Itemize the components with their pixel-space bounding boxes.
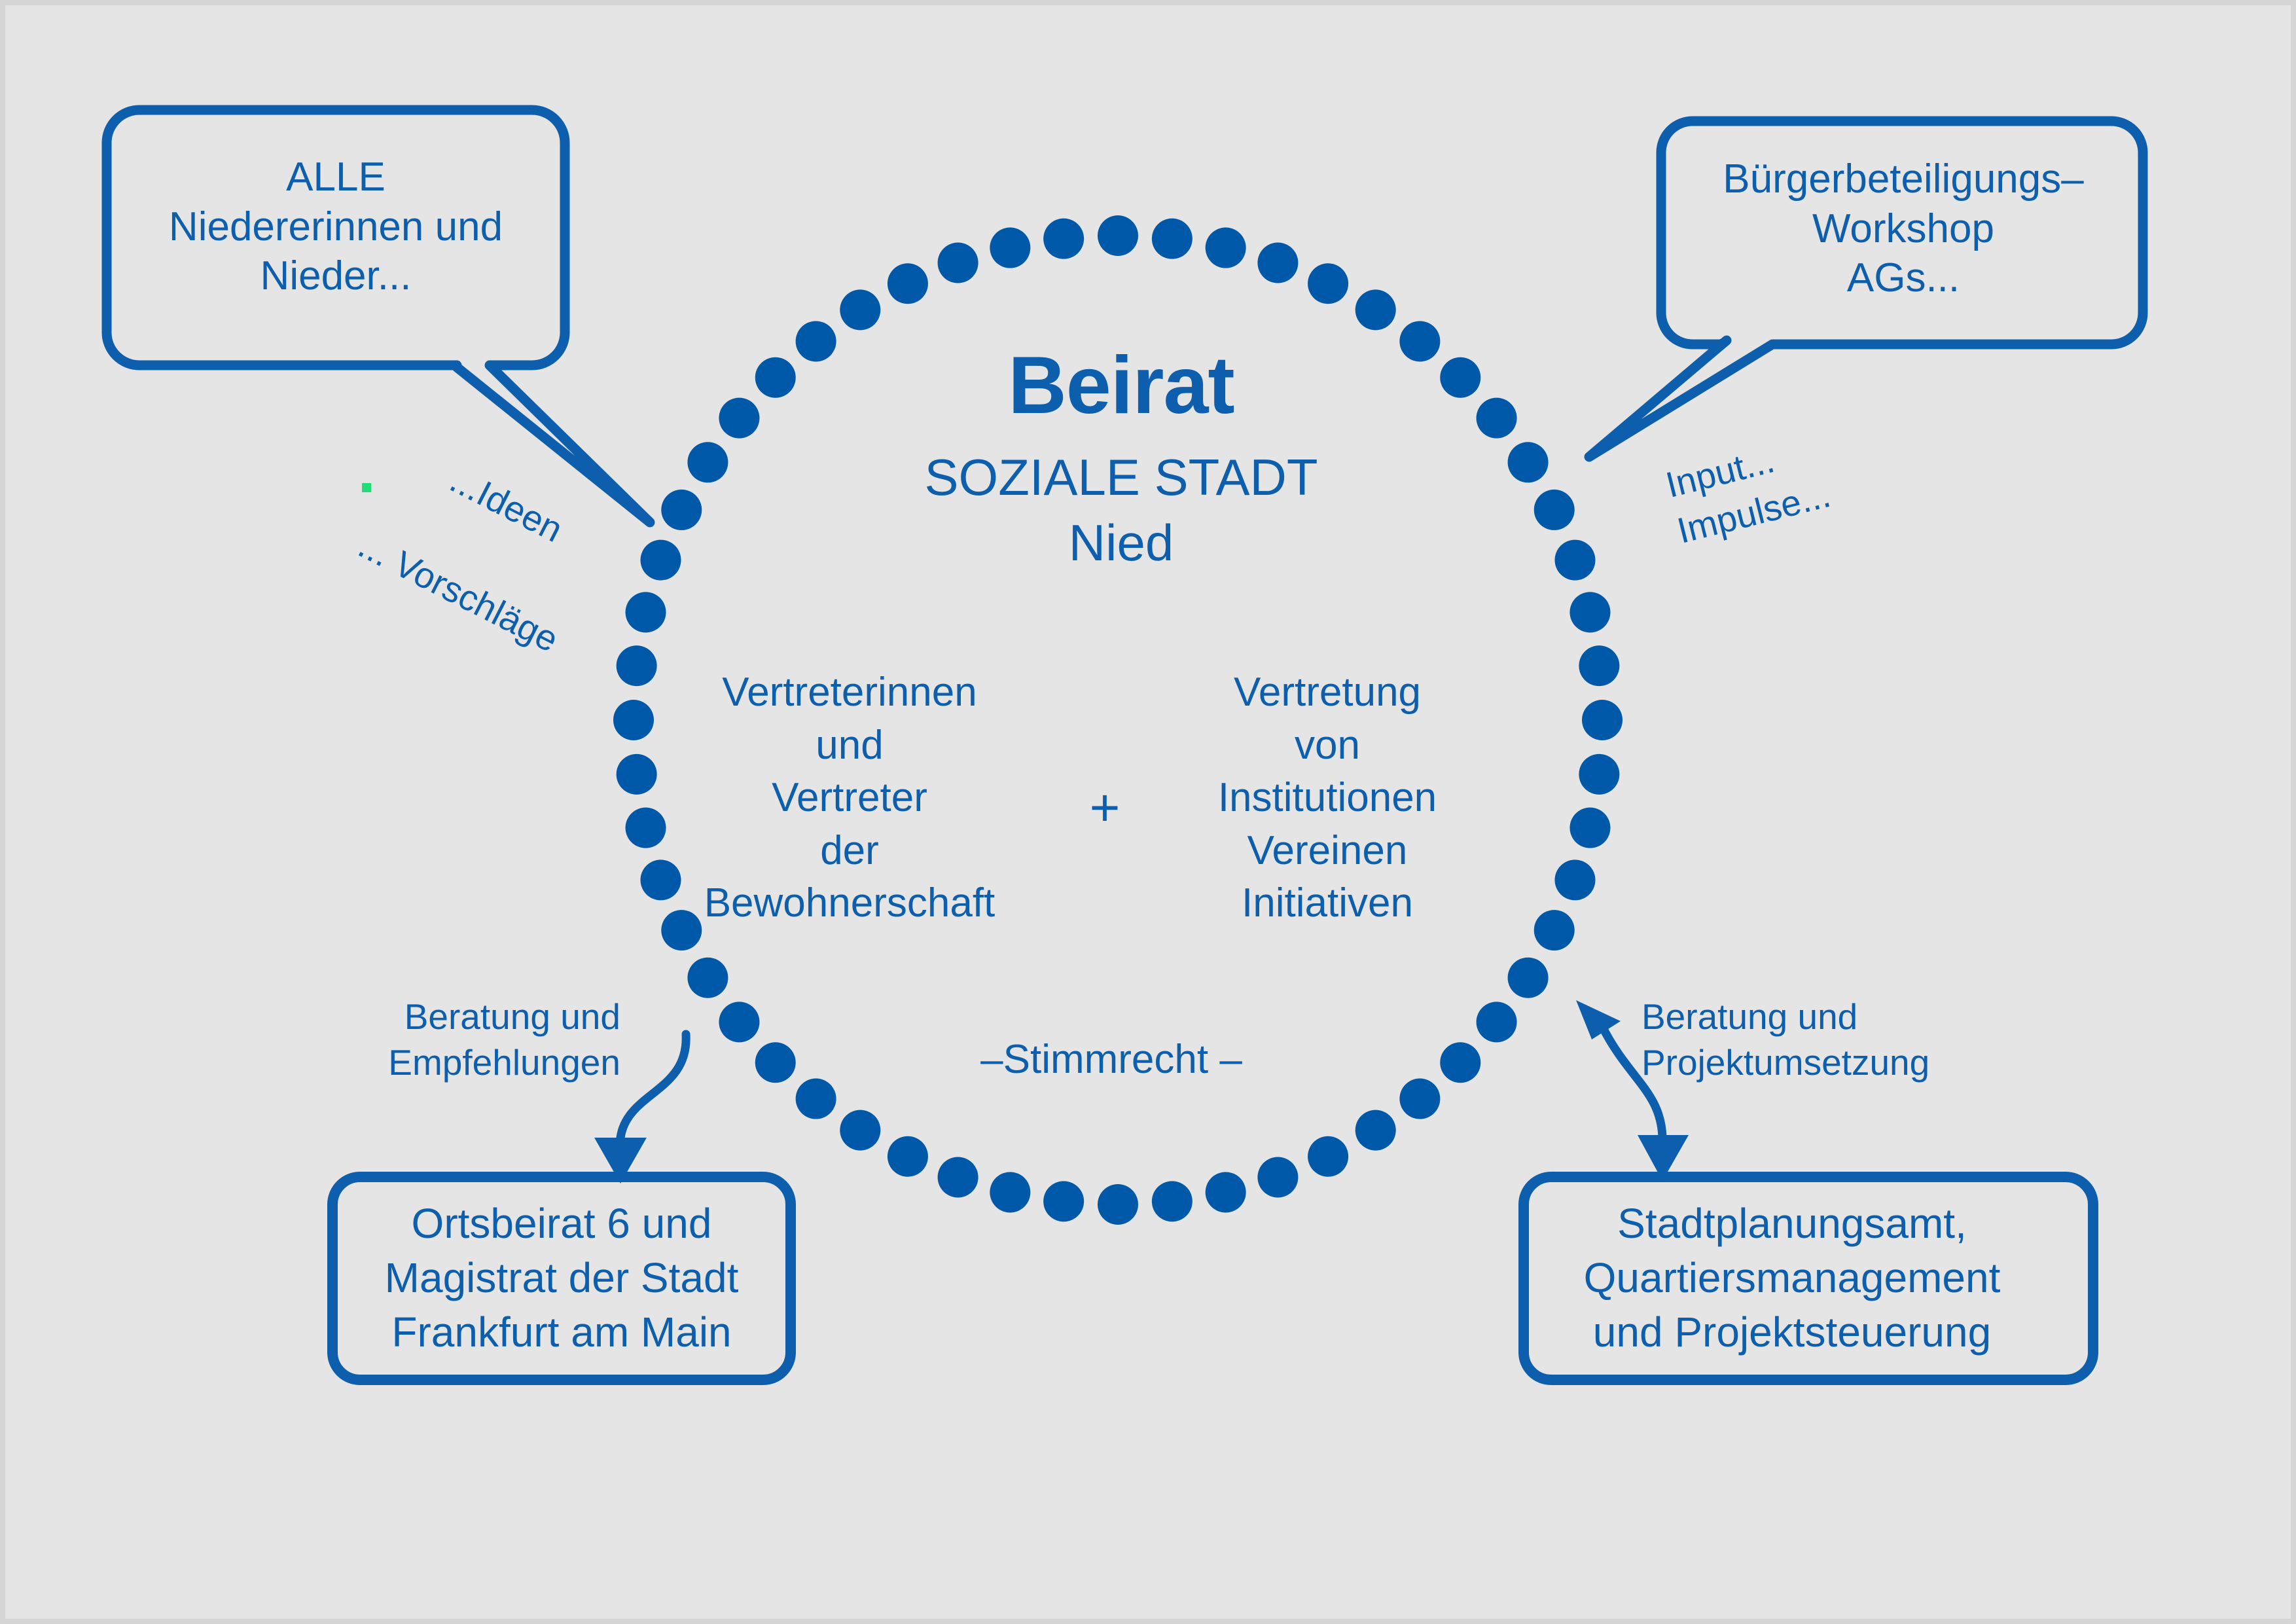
ring-dot (1043, 219, 1084, 259)
diagram-vector-layer (5, 5, 2291, 1619)
ring-dot (938, 1157, 978, 1197)
ring-dot (888, 1136, 928, 1177)
ring-dot (1152, 1181, 1193, 1221)
arrow-to-ortsbeirat (620, 1034, 686, 1138)
ring-dot (796, 1079, 836, 1119)
ring-dot (1399, 1079, 1440, 1119)
ring-dot (1477, 398, 1517, 439)
ring-dot (1043, 1181, 1084, 1221)
voting-rights-note: –Stimmrecht – (908, 1036, 1314, 1083)
ring-dot (1206, 228, 1246, 268)
ring-dot (938, 243, 978, 283)
ring-dot (661, 490, 702, 530)
ring-dot (1508, 442, 1549, 482)
ring-dot (617, 645, 657, 686)
ring-dot (1508, 958, 1549, 998)
ring-dot (1534, 490, 1575, 530)
ring-dot (641, 540, 681, 581)
members-column-residents: Vertreterinnen und Vertreter der Bewohne… (666, 666, 1033, 930)
ring-dot (617, 754, 657, 795)
page-title: Beirat (778, 339, 1465, 432)
members-column-institutions: Vertretung von Institutionen Vereinen In… (1177, 666, 1478, 930)
ring-dot (687, 958, 728, 998)
ring-dot (1098, 215, 1138, 256)
ring-dot (990, 228, 1030, 268)
label-beratung-empfehlungen: Beratung und Empfehlungen (359, 994, 620, 1086)
ring-dot (1257, 1157, 1298, 1197)
ring-dot (1579, 645, 1619, 686)
green-accent-dot (362, 483, 371, 492)
box-ortsbeirat-text: Ortsbeirat 6 und Magistrat der Stadt Fra… (332, 1197, 791, 1360)
ring-dot (840, 1110, 880, 1151)
ring-dot (719, 1001, 759, 1042)
ring-dot (1440, 1042, 1480, 1083)
ring-dot (755, 1042, 796, 1083)
ring-dot (1570, 592, 1610, 632)
label-beratung-projektumsetzung: Beratung und Projektumsetzung (1641, 994, 1949, 1086)
ring-dot (1308, 263, 1348, 304)
box-stadtplanungsamt-text: Stadtplanungsamt, Quartiersmanagement un… (1504, 1197, 2080, 1360)
ring-dot (1152, 219, 1193, 259)
ring-dot (1206, 1172, 1246, 1212)
ring-dot (1257, 243, 1298, 283)
ring-dot (613, 700, 654, 740)
ring-dot (1579, 754, 1619, 795)
speech-bubble-left-outline (107, 110, 650, 522)
ring-dot (990, 1172, 1030, 1212)
ring-dot (1477, 1001, 1517, 1042)
ring-dot (1570, 808, 1610, 848)
ring-dot (840, 289, 880, 330)
ring-dot (1308, 1136, 1348, 1177)
diagram-canvas: Beirat SOZIALE STADT Nied Vertreterinnen… (5, 5, 2291, 1619)
ring-dot (888, 263, 928, 304)
ring-dot (1355, 289, 1396, 330)
ring-dot (626, 592, 666, 632)
ring-dot (1355, 1110, 1396, 1151)
ring-dot (626, 808, 666, 848)
ring-dot (1554, 540, 1595, 581)
ring-dot (1098, 1184, 1138, 1225)
ring-dot (1554, 859, 1595, 900)
plus-symbol: + (1066, 778, 1144, 838)
page-subtitle: SOZIALE STADT Nied (778, 445, 1465, 576)
ring-dot (1534, 910, 1575, 950)
ring-dot (1582, 700, 1623, 740)
ring-dot (719, 398, 759, 439)
arrowhead-up-stadtplanungsamt (1576, 1000, 1621, 1039)
ring-dot (687, 442, 728, 482)
speech-bubble-right-outline (1589, 121, 2143, 457)
